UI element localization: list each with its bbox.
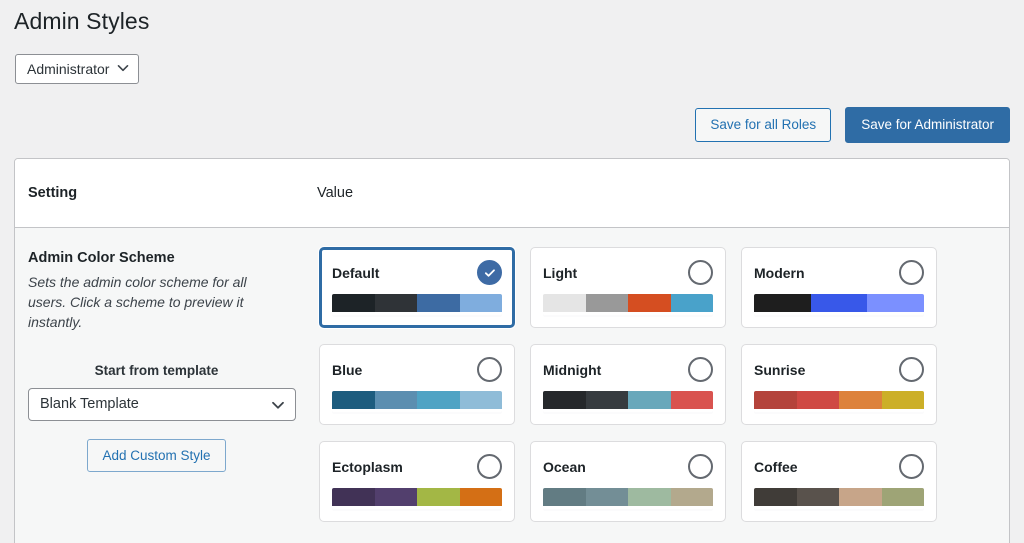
chevron-down-icon [271,398,284,411]
page-title: Admin Styles [14,6,149,36]
scheme-swatch [332,488,502,509]
add-custom-style-button[interactable]: Add Custom Style [87,439,225,472]
table-row: Admin Color Scheme Sets the admin color … [15,228,1009,543]
color-scheme-grid: DefaultLightModernBlueMidnightSunriseEct… [319,247,993,522]
template-label: Start from template [28,363,285,378]
scheme-card-sunrise[interactable]: Sunrise [741,344,937,425]
scheme-name: Modern [754,265,805,281]
radio-button-icon[interactable] [688,454,713,479]
scheme-card-header: Modern [754,260,924,285]
swatch-color-1 [332,488,375,506]
column-header-setting: Setting [15,185,317,201]
radio-button-icon[interactable] [688,357,713,382]
chevron-down-icon [117,62,127,72]
radio-button-icon[interactable] [477,357,502,382]
scheme-name: Ectoplasm [332,459,403,475]
swatch-color-3 [417,488,460,506]
swatch-color-2 [811,294,868,312]
swatch-color-2 [797,488,840,506]
column-header-value: Value [317,185,353,201]
scheme-name: Blue [332,362,362,378]
scheme-card-header: Blue [332,357,502,382]
value-cell: DefaultLightModernBlueMidnightSunriseEct… [317,228,1009,543]
scheme-card-modern[interactable]: Modern [741,247,937,328]
radio-button-icon[interactable] [899,454,924,479]
swatch-color-1 [754,488,797,506]
save-for-all-roles-button[interactable]: Save for all Roles [695,108,831,142]
scheme-swatch [332,294,502,315]
swatch-color-3 [839,391,882,409]
scheme-swatch [754,391,924,412]
scheme-swatch [543,294,713,315]
settings-table: Setting Value Admin Color Scheme Sets th… [14,158,1010,543]
scheme-card-header: Default [332,260,502,285]
scheme-card-header: Light [543,260,713,285]
scheme-swatch [754,488,924,509]
swatch-color-4 [671,391,714,409]
swatch-color-3 [628,391,671,409]
scheme-card-header: Coffee [754,454,924,479]
swatch-color-4 [882,391,925,409]
swatch-color-3 [417,391,460,409]
scheme-card-header: Ectoplasm [332,454,502,479]
scheme-card-ectoplasm[interactable]: Ectoplasm [319,441,515,522]
swatch-color-1 [543,488,586,506]
template-select[interactable]: Blank Template [28,388,296,421]
swatch-color-3 [839,488,882,506]
swatch-color-3 [628,294,671,312]
swatch-color-2 [375,488,418,506]
swatch-color-4 [460,391,503,409]
scheme-name: Sunrise [754,362,805,378]
setting-description: Sets the admin color scheme for all user… [28,273,273,333]
swatch-color-2 [586,294,629,312]
swatch-color-3 [628,488,671,506]
scheme-card-midnight[interactable]: Midnight [530,344,726,425]
scheme-name: Midnight [543,362,601,378]
action-buttons: Save for all Roles Save for Administrato… [695,107,1010,143]
radio-button-icon[interactable] [899,260,924,285]
scheme-card-header: Sunrise [754,357,924,382]
swatch-color-1 [543,294,586,312]
swatch-color-1 [332,391,375,409]
swatch-color-1 [543,391,586,409]
scheme-name: Light [543,265,577,281]
swatch-color-2 [375,294,418,312]
setting-title: Admin Color Scheme [28,250,295,266]
swatch-color-3 [417,294,460,312]
scheme-card-ocean[interactable]: Ocean [530,441,726,522]
scheme-swatch [754,294,924,315]
swatch-color-4 [882,488,925,506]
swatch-color-4 [460,488,503,506]
scheme-card-header: Midnight [543,357,713,382]
swatch-color-2 [375,391,418,409]
template-block: Start from template Blank Template Add C… [28,363,295,472]
role-selector-dropdown[interactable]: Administrator [15,54,139,84]
scheme-card-light[interactable]: Light [530,247,726,328]
swatch-color-4 [671,488,714,506]
swatch-color-2 [797,391,840,409]
table-header-row: Setting Value [15,159,1009,228]
swatch-color-2 [586,391,629,409]
swatch-color-1 [754,294,811,312]
scheme-card-blue[interactable]: Blue [319,344,515,425]
scheme-card-coffee[interactable]: Coffee [741,441,937,522]
template-select-value: Blank Template [40,396,139,412]
scheme-swatch [332,391,502,412]
scheme-swatch [543,488,713,509]
scheme-card-default[interactable]: Default [319,247,515,328]
check-circle-icon[interactable] [477,260,502,285]
scheme-name: Ocean [543,459,586,475]
swatch-color-4 [460,294,503,312]
radio-button-icon[interactable] [477,454,502,479]
scheme-card-header: Ocean [543,454,713,479]
swatch-color-3 [867,294,924,312]
swatch-color-1 [754,391,797,409]
setting-cell: Admin Color Scheme Sets the admin color … [15,228,317,543]
swatch-color-4 [671,294,714,312]
admin-styles-page: Admin Styles Administrator Save for all … [0,0,1024,543]
save-for-administrator-button[interactable]: Save for Administrator [845,107,1010,143]
swatch-color-1 [332,294,375,312]
radio-button-icon[interactable] [899,357,924,382]
swatch-color-2 [586,488,629,506]
radio-button-icon[interactable] [688,260,713,285]
role-selector-value: Administrator [27,55,109,83]
scheme-swatch [543,391,713,412]
scheme-name: Default [332,265,379,281]
scheme-name: Coffee [754,459,798,475]
